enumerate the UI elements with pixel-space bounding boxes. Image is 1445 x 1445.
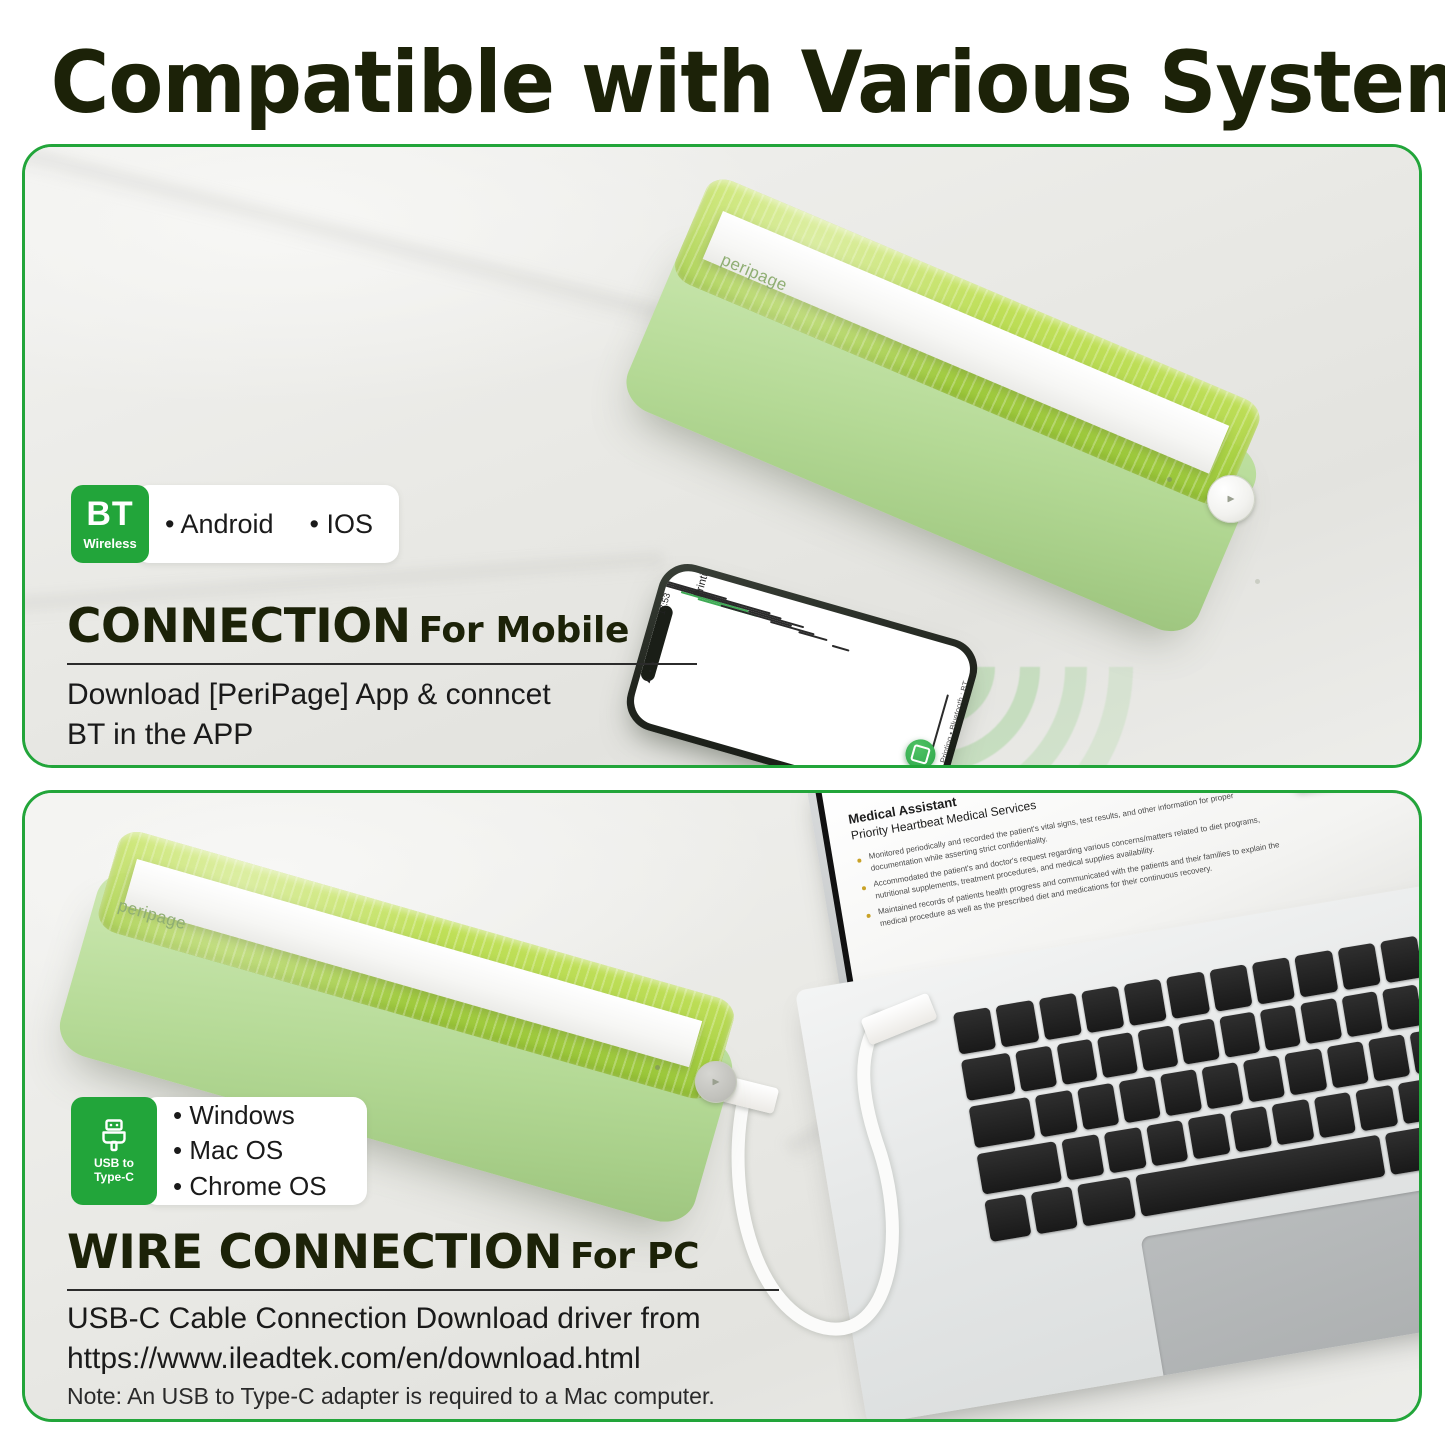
printer-power-button-pc[interactable] [695, 1061, 737, 1103]
printer-indicator-dot-pc [655, 1065, 660, 1070]
keyboard-key[interactable] [1035, 1090, 1078, 1137]
keyboard-key[interactable] [1341, 991, 1383, 1038]
usb-os-pill: • Windows • Mac OS • Chrome OS [143, 1097, 367, 1205]
usb-badge-sublabel-2: Type-C [94, 1171, 134, 1185]
body-text-pc: USB-C Cable Connection Download driver f… [67, 1299, 827, 1378]
panel-mobile-connection: BT peripage 17: [22, 144, 1422, 768]
keyboard-key[interactable] [1201, 1062, 1244, 1109]
keyboard-key[interactable] [1380, 936, 1422, 983]
keyboard-key[interactable] [1077, 1177, 1136, 1227]
keyboard-key[interactable] [1272, 1099, 1315, 1146]
os-item-android: • Android [165, 509, 274, 540]
keyboard-key[interactable] [1368, 1034, 1411, 1081]
os-item-ios: • IOS [310, 509, 373, 540]
printer-device-mobile: peripage [665, 155, 1365, 625]
keyboard-key[interactable] [1031, 1187, 1078, 1235]
panel-pc-connection: Medical Assistant Priority Heartbeat Med… [22, 790, 1422, 1422]
bluetooth-badge-sublabel: Wireless [83, 536, 136, 551]
page-title: Compatible with Various Systems [51, 38, 1395, 128]
keyboard-key[interactable] [1398, 1078, 1422, 1125]
keyboard-key[interactable] [1230, 1106, 1273, 1153]
keyboard-key[interactable] [1038, 993, 1082, 1040]
doc-bullet-dot-3 [866, 914, 871, 919]
doc-bullet-dot [857, 858, 862, 863]
laptop-trackpad[interactable] [1140, 1188, 1422, 1422]
heading-soft-mobile: For Mobile [419, 610, 630, 651]
keyboard-key[interactable] [1382, 984, 1422, 1031]
keyboard-key[interactable] [1166, 971, 1210, 1018]
usb-type-c-badge-icon: USB to Type-C [71, 1097, 157, 1205]
os-item-chromeos: • Chrome OS [173, 1170, 327, 1203]
keyboard-key[interactable] [984, 1194, 1031, 1242]
keyboard-key[interactable] [1077, 1083, 1120, 1130]
keyboard-key[interactable] [961, 1052, 1017, 1101]
printer-indicator-dot [1167, 477, 1172, 482]
keyboard-key[interactable] [1097, 1032, 1139, 1079]
keyboard-key[interactable] [1314, 1092, 1357, 1139]
keyboard-key[interactable] [1219, 1011, 1261, 1058]
keyboard-key[interactable] [1160, 1069, 1203, 1116]
heading-connection-mobile: CONNECTIONFor Mobile [67, 599, 629, 654]
keyboard-key[interactable] [1300, 998, 1342, 1045]
heading-strong-pc: WIRE CONNECTION [67, 1225, 562, 1280]
keyboard-key[interactable] [1146, 1120, 1189, 1167]
usb-badge-sublabel-1: USB to [94, 1157, 134, 1171]
badge-bluetooth-row: BT Wireless • Android • IOS [71, 485, 399, 563]
keyboard-key[interactable] [1252, 957, 1296, 1004]
keyboard-key[interactable] [1056, 1038, 1098, 1085]
keyboard-key[interactable] [1178, 1018, 1220, 1065]
keyboard-key[interactable] [1081, 986, 1125, 1033]
badge-usb-row: USB to Type-C • Windows • Mac OS • Chrom… [71, 1097, 367, 1205]
os-item-macos: • Mac OS [173, 1134, 327, 1167]
keyboard-key[interactable] [1062, 1134, 1105, 1181]
keyboard-key[interactable] [1337, 943, 1381, 990]
printer-screw-dot [1255, 579, 1260, 584]
keyboard-key[interactable] [1209, 964, 1253, 1011]
keyboard-key[interactable] [1188, 1113, 1231, 1160]
keyboard-key[interactable] [1409, 1027, 1422, 1074]
keyboard-key[interactable] [1384, 1125, 1422, 1175]
keyboard-key[interactable] [1118, 1076, 1161, 1123]
bluetooth-badge-label: BT [86, 497, 133, 531]
body-text-mobile: Download [PeriPage] App & conncet BT in … [67, 675, 747, 754]
keyboard-key[interactable] [1260, 1004, 1302, 1051]
printer-power-button[interactable] [1207, 475, 1255, 523]
keyboard-key[interactable] [1137, 1025, 1179, 1072]
keyboard-key[interactable] [1326, 1041, 1369, 1088]
os-item-windows: • Windows [173, 1099, 327, 1132]
heading-rule-mobile [67, 663, 697, 665]
keyboard-key[interactable] [1104, 1127, 1147, 1174]
heading-rule-pc [67, 1289, 779, 1291]
keyboard-key[interactable] [1124, 979, 1168, 1026]
keyboard-key[interactable] [1356, 1085, 1399, 1132]
note-text-pc: Note: An USB to Type-C adapter is requir… [67, 1383, 715, 1410]
keyboard-key[interactable] [1015, 1045, 1057, 1092]
keyboard-key[interactable] [969, 1097, 1036, 1148]
printer-device-pc: peripage [95, 813, 815, 1143]
keyboard-key[interactable] [996, 1000, 1040, 1047]
infographic-page: Compatible with Various Systems BT [0, 0, 1445, 1445]
doc-bullet-dot-2 [862, 886, 867, 891]
heading-soft-pc: For PC [570, 1236, 699, 1277]
bluetooth-badge-icon: BT Wireless [71, 485, 149, 563]
keyboard-key[interactable] [1243, 1055, 1286, 1102]
heading-strong-mobile: CONNECTION [67, 599, 411, 654]
bluetooth-os-pill: • Android • IOS [135, 485, 399, 563]
heading-connection-pc: WIRE CONNECTIONFor PC [67, 1225, 699, 1280]
keyboard-key[interactable] [1294, 950, 1338, 997]
laptop-keyboard[interactable] [953, 914, 1422, 1242]
keyboard-key[interactable] [1285, 1048, 1328, 1095]
certification-panel: CERTIFICATION Certified Phlebotomy Techn… [1284, 790, 1422, 791]
keyboard-key[interactable] [976, 1141, 1062, 1195]
usb-plug-icon [98, 1118, 130, 1152]
